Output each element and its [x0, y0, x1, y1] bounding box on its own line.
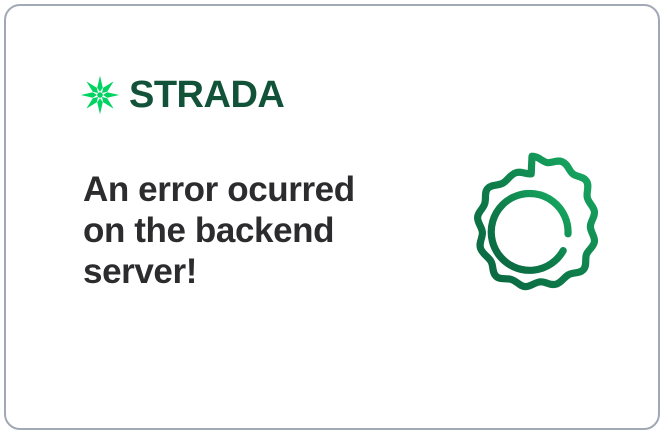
brand-logo: STRADA — [80, 72, 284, 118]
brand-name: STRADA — [129, 76, 284, 114]
error-message: An error ocurred on the backend server! — [83, 169, 373, 292]
strada-mark-holder — [80, 75, 120, 115]
gear-illustration — [452, 145, 612, 305]
error-screen: STRADA An error ocurred on the backend s… — [0, 0, 666, 436]
error-card: STRADA An error ocurred on the backend s… — [4, 4, 660, 430]
gear-cog-icon — [452, 145, 612, 305]
starburst-asterisk-icon — [80, 75, 120, 115]
